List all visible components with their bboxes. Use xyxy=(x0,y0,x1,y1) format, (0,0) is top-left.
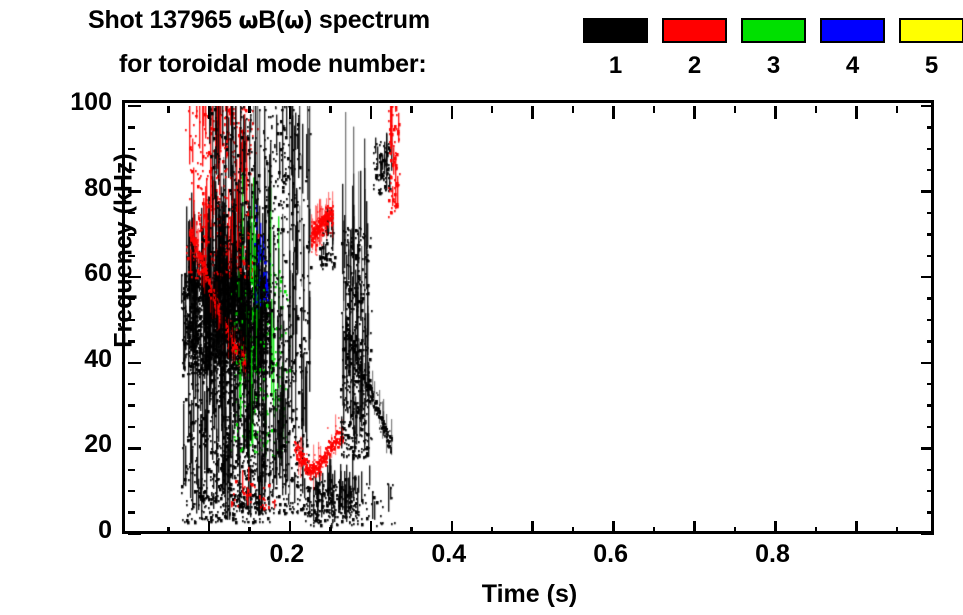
y-tick-right xyxy=(921,447,934,450)
x-tick-bottom xyxy=(693,521,696,534)
x-tick-bottom xyxy=(855,521,858,534)
x-tick-bottom xyxy=(491,527,494,534)
x-tick-bottom xyxy=(208,521,211,534)
y-tick-right xyxy=(927,404,934,407)
legend-item-2: 2 xyxy=(662,18,727,78)
y-tick-left xyxy=(128,105,141,108)
x-tick-top xyxy=(248,106,251,113)
y-axis-label: Frequency (kHz) xyxy=(110,121,139,381)
y-tick-left xyxy=(128,447,141,450)
x-tick-bottom xyxy=(734,527,737,534)
plot-area xyxy=(122,100,934,534)
x-tick-label-0.8: 0.8 xyxy=(728,542,818,567)
y-tick-right xyxy=(927,469,934,472)
y-tick-right xyxy=(927,426,934,429)
legend-label-1: 1 xyxy=(609,54,622,78)
x-tick-top xyxy=(815,106,818,113)
x-tick-bottom xyxy=(815,527,818,534)
x-tick-top xyxy=(572,106,575,113)
legend-swatch-1 xyxy=(583,18,648,43)
y-tick-left xyxy=(128,469,135,472)
x-tick-bottom xyxy=(329,527,332,534)
legend-label-5: 5 xyxy=(925,54,938,78)
x-tick-top xyxy=(653,106,656,113)
y-tick-right xyxy=(927,383,934,386)
legend-swatch-5 xyxy=(899,18,963,43)
y-tick-right xyxy=(921,362,934,365)
x-tick-label-0.2: 0.2 xyxy=(242,542,332,567)
legend-item-1: 1 xyxy=(583,18,648,78)
x-tick-bottom xyxy=(370,521,373,534)
y-tick-label-0: 0 xyxy=(8,518,112,543)
x-tick-top xyxy=(329,106,332,113)
x-tick-label-0.6: 0.6 xyxy=(566,542,656,567)
y-tick-right xyxy=(927,340,934,343)
x-tick-top xyxy=(612,106,615,119)
legend-label-2: 2 xyxy=(688,54,701,78)
chart-title-line-2: for toroidal mode number: xyxy=(119,50,427,79)
legend: 12345 xyxy=(583,18,963,78)
y-tick-label-100: 100 xyxy=(8,90,112,115)
x-tick-bottom xyxy=(248,527,251,534)
spectrogram-canvas xyxy=(128,106,934,534)
omega-symbol-1: ω xyxy=(238,8,258,34)
x-tick-top xyxy=(491,106,494,113)
y-tick-right xyxy=(927,511,934,514)
legend-swatch-4 xyxy=(820,18,885,43)
y-tick-left xyxy=(128,511,135,514)
x-axis-label-text: Time (s) xyxy=(482,580,577,608)
legend-item-4: 4 xyxy=(820,18,885,78)
x-tick-bottom xyxy=(896,527,899,534)
x-tick-top xyxy=(896,106,899,113)
x-tick-bottom xyxy=(289,521,292,534)
y-tick-right xyxy=(927,490,934,493)
title-text-mid: B( xyxy=(258,6,284,34)
title-text-post: ) spectrum xyxy=(304,6,430,34)
y-tick-right xyxy=(921,276,934,279)
figure-root: Shot 137965 ωB(ω) spectrum for toroidal … xyxy=(0,0,963,615)
y-tick-left xyxy=(128,426,135,429)
x-tick-top xyxy=(167,106,170,113)
y-tick-label-60: 60 xyxy=(8,261,112,286)
x-tick-top xyxy=(208,106,211,119)
chart-title-line-1: Shot 137965 ωB(ω) spectrum xyxy=(88,6,430,35)
y-tick-left xyxy=(128,404,135,407)
legend-item-3: 3 xyxy=(741,18,806,78)
y-tick-right xyxy=(927,169,934,172)
x-tick-top xyxy=(451,106,454,119)
x-tick-top xyxy=(289,106,292,119)
omega-symbol-2: ω xyxy=(284,8,304,34)
x-tick-top xyxy=(531,106,534,119)
x-tick-bottom xyxy=(653,527,656,534)
legend-label-4: 4 xyxy=(846,54,859,78)
x-tick-top xyxy=(410,106,413,113)
y-tick-right xyxy=(921,533,934,536)
y-tick-right xyxy=(921,105,934,108)
y-tick-left xyxy=(128,490,135,493)
y-tick-left xyxy=(128,383,135,386)
y-tick-right xyxy=(927,233,934,236)
x-tick-top xyxy=(693,106,696,119)
x-tick-top xyxy=(734,106,737,113)
y-tick-right xyxy=(927,148,934,151)
title-text-pre: Shot 137965 xyxy=(88,6,238,34)
y-tick-right xyxy=(921,190,934,193)
legend-swatch-2 xyxy=(662,18,727,43)
x-axis-label: Time (s) xyxy=(0,580,963,609)
x-tick-bottom xyxy=(774,521,777,534)
x-tick-bottom xyxy=(612,521,615,534)
x-tick-label-0.4: 0.4 xyxy=(404,542,494,567)
x-tick-bottom xyxy=(451,521,454,534)
x-tick-bottom xyxy=(531,521,534,534)
y-tick-right xyxy=(927,212,934,215)
legend-item-5: 5 xyxy=(899,18,963,78)
x-tick-bottom xyxy=(410,527,413,534)
x-tick-top xyxy=(855,106,858,119)
y-tick-right xyxy=(927,297,934,300)
x-tick-top xyxy=(370,106,373,119)
y-tick-left xyxy=(128,533,141,536)
y-tick-label-80: 80 xyxy=(8,176,112,201)
y-tick-label-40: 40 xyxy=(8,347,112,372)
legend-label-3: 3 xyxy=(767,54,780,78)
y-tick-label-20: 20 xyxy=(8,432,112,457)
y-tick-right xyxy=(927,319,934,322)
y-tick-right xyxy=(927,126,934,129)
x-tick-top xyxy=(774,106,777,119)
x-tick-bottom xyxy=(167,527,170,534)
y-tick-right xyxy=(927,255,934,258)
x-tick-bottom xyxy=(572,527,575,534)
legend-swatch-3 xyxy=(741,18,806,43)
